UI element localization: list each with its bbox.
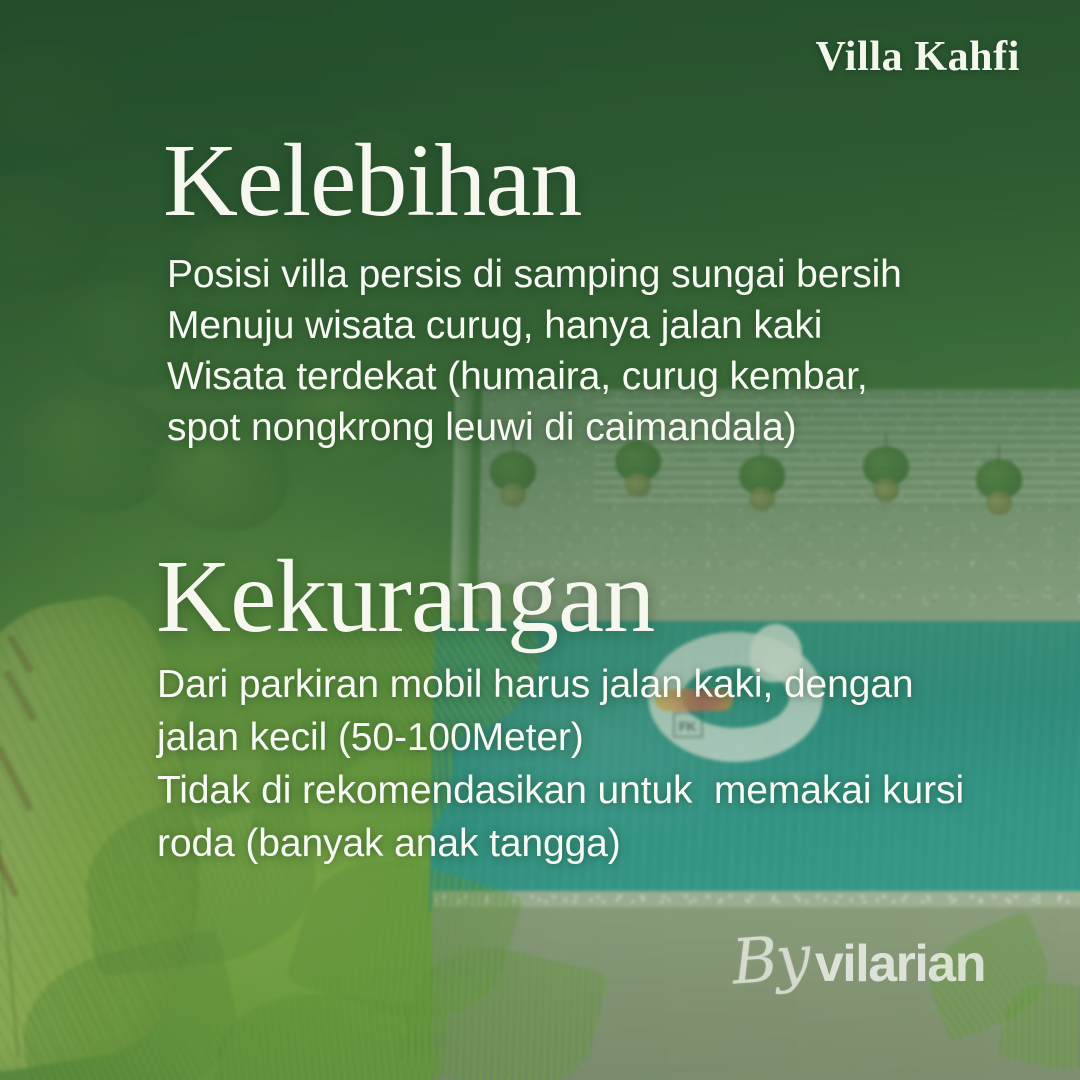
section-body-kekurangan: Dari parkiran mobil harus jalan kaki, de… (157, 658, 964, 870)
watermark-brand: vilarian (815, 934, 985, 994)
section-heading-kelebihan: Kelebihan (163, 129, 581, 233)
watermark-prefix: By (730, 920, 811, 998)
brand-name: Villa Kahfi (815, 33, 1020, 81)
section-heading-kekurangan: Kekurangan (156, 545, 654, 649)
watermark: By vilarian (732, 923, 985, 996)
section-body-kelebihan: Posisi villa persis di samping sungai be… (167, 249, 902, 453)
poster-canvas: FK Villa Kahfi Kelebihan Posisi villa pe… (0, 0, 1080, 1080)
